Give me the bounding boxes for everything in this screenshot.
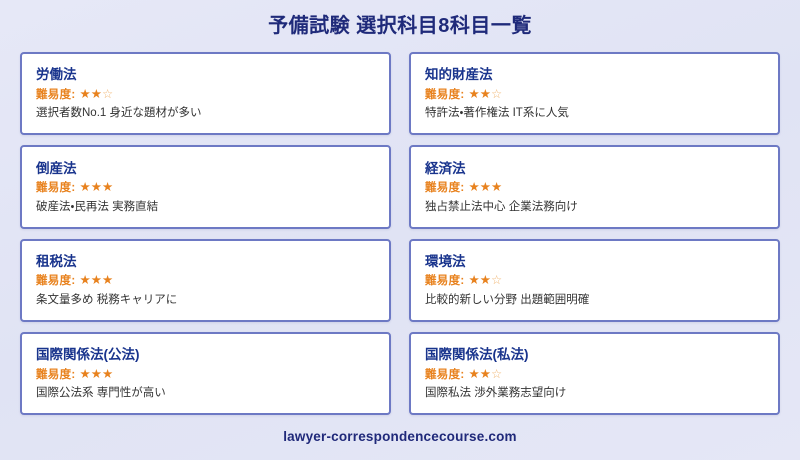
difficulty-row: 難易度: ★★☆	[425, 88, 764, 104]
subject-note: 条文量多め 税務キャリアに	[36, 293, 375, 309]
subject-card[interactable]: 国際関係法(私法) 難易度: ★★☆ 国際私法 渉外業務志望向け	[409, 332, 780, 415]
subject-note: 特許法・著作権法 IT系に人気	[425, 106, 764, 122]
difficulty-stars-icon: ★★★	[80, 274, 114, 287]
subject-note: 国際公法系 専門性が高い	[36, 386, 375, 402]
difficulty-label: 難易度:	[36, 181, 76, 197]
subject-name: 国際関係法(私法)	[425, 346, 764, 364]
difficulty-label: 難易度:	[36, 274, 76, 290]
subject-card[interactable]: 租税法 難易度: ★★★ 条文量多め 税務キャリアに	[20, 239, 391, 322]
difficulty-stars-icon: ★★☆	[80, 88, 114, 101]
footer-site-url: lawyer-correspondencecourse.com	[0, 415, 800, 460]
page-title: 予備試験 選択科目8科目一覧	[0, 0, 800, 52]
subject-note: 国際私法 渉外業務志望向け	[425, 386, 764, 402]
subject-card[interactable]: 倒産法 難易度: ★★★ 破産法・民再法 実務直結	[20, 145, 391, 228]
difficulty-row: 難易度: ★★★	[36, 181, 375, 197]
subject-note: 選択者数No.1 身近な題材が多い	[36, 106, 375, 122]
subject-name: 倒産法	[36, 160, 375, 178]
subject-card-grid: 労働法 難易度: ★★☆ 選択者数No.1 身近な題材が多い 知的財産法 難易度…	[0, 52, 800, 415]
subject-card[interactable]: 環境法 難易度: ★★☆ 比較的新しい分野 出題範囲明確	[409, 239, 780, 322]
difficulty-label: 難易度:	[425, 368, 465, 384]
difficulty-label: 難易度:	[36, 88, 76, 104]
subject-name: 国際関係法(公法)	[36, 346, 375, 364]
difficulty-stars-icon: ★★☆	[469, 88, 503, 101]
difficulty-stars-icon: ★★★	[80, 181, 114, 194]
difficulty-stars-icon: ★★☆	[469, 274, 503, 287]
subject-name: 租税法	[36, 253, 375, 271]
subject-name: 労働法	[36, 66, 375, 84]
difficulty-row: 難易度: ★★★	[36, 274, 375, 290]
subject-note: 破産法・民再法 実務直結	[36, 200, 375, 216]
difficulty-stars-icon: ★★★	[80, 368, 114, 381]
subject-name: 環境法	[425, 253, 764, 271]
difficulty-row: 難易度: ★★☆	[425, 368, 764, 384]
difficulty-label: 難易度:	[425, 88, 465, 104]
subject-note: 独占禁止法中心 企業法務向け	[425, 200, 764, 216]
subject-name: 知的財産法	[425, 66, 764, 84]
difficulty-row: 難易度: ★★★	[425, 181, 764, 197]
subject-card[interactable]: 労働法 難易度: ★★☆ 選択者数No.1 身近な題材が多い	[20, 52, 391, 135]
subject-card[interactable]: 経済法 難易度: ★★★ 独占禁止法中心 企業法務向け	[409, 145, 780, 228]
subject-card[interactable]: 知的財産法 難易度: ★★☆ 特許法・著作権法 IT系に人気	[409, 52, 780, 135]
difficulty-label: 難易度:	[425, 181, 465, 197]
subject-card[interactable]: 国際関係法(公法) 難易度: ★★★ 国際公法系 専門性が高い	[20, 332, 391, 415]
difficulty-stars-icon: ★★★	[469, 181, 503, 194]
difficulty-row: 難易度: ★★★	[36, 368, 375, 384]
difficulty-label: 難易度:	[36, 368, 76, 384]
difficulty-label: 難易度:	[425, 274, 465, 290]
subject-note: 比較的新しい分野 出題範囲明確	[425, 293, 764, 309]
infographic-page: 予備試験 選択科目8科目一覧 労働法 難易度: ★★☆ 選択者数No.1 身近な…	[0, 0, 800, 460]
difficulty-stars-icon: ★★☆	[469, 368, 503, 381]
difficulty-row: 難易度: ★★☆	[36, 88, 375, 104]
subject-name: 経済法	[425, 160, 764, 178]
difficulty-row: 難易度: ★★☆	[425, 274, 764, 290]
